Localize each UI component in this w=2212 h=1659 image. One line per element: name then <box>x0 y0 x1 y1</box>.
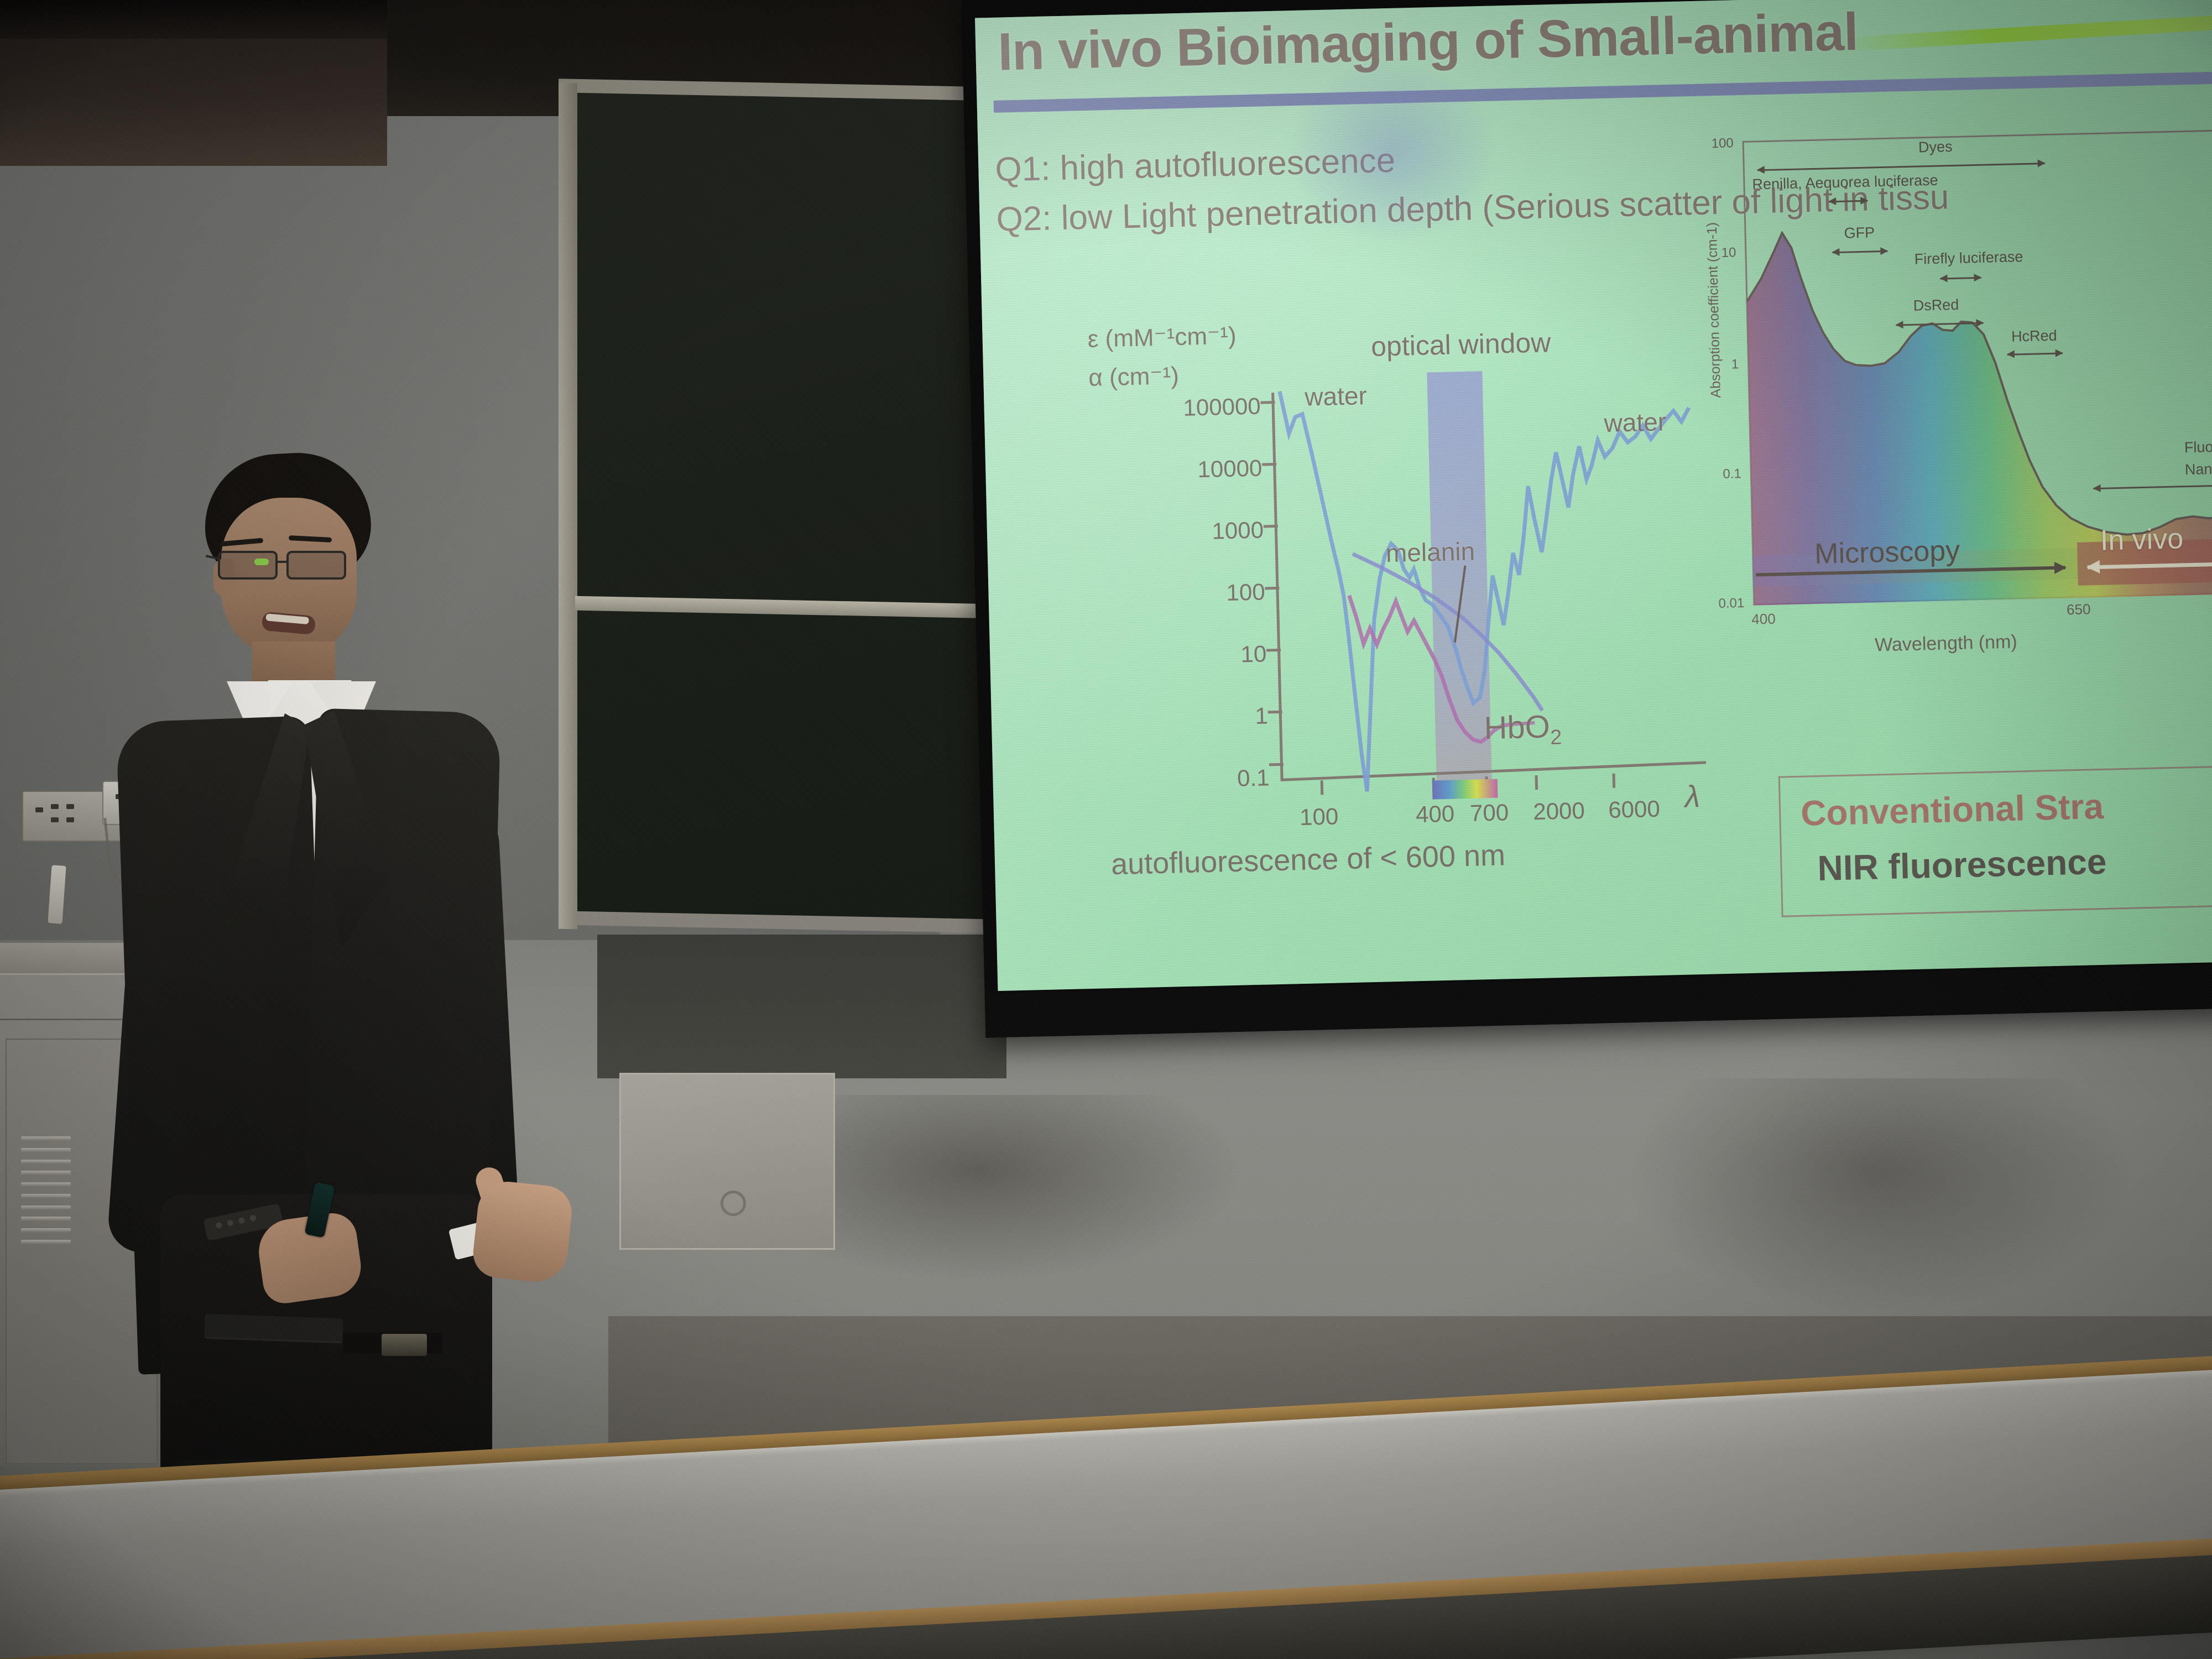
outlet-slot <box>51 817 59 822</box>
label-in-vivo: In vivo <box>2100 522 2184 557</box>
xtick-label: 400 <box>1751 611 1776 628</box>
label-water-left: water <box>1305 380 1368 412</box>
projected-slide: In vivo Bioimaging of Small-animal Q1: h… <box>975 0 2212 991</box>
glasses-lens-right <box>286 551 346 580</box>
chart-right-area <box>1680 107 2212 679</box>
outlet-slot <box>66 817 74 822</box>
belt-buckle <box>382 1334 427 1356</box>
callout-line-2: NIR fluorescence <box>1817 841 2107 889</box>
outlet-slot <box>35 807 43 812</box>
slide-bullet-q1: Q1: high autofluorescence <box>995 141 1396 190</box>
wall-stain <box>802 1095 1244 1283</box>
xtick-label: 2000 <box>1533 797 1585 825</box>
label-optical-window: optical window <box>1371 326 1551 363</box>
glasses-bridge <box>278 561 289 563</box>
outlet-slot <box>66 804 74 809</box>
glasses-icon <box>215 549 363 583</box>
cabinet-vent <box>21 1136 71 1244</box>
xtick-label: 6000 <box>1608 796 1661 823</box>
glasses-lens-left <box>218 551 278 580</box>
xtick-label: 650 <box>2067 601 2091 618</box>
xtick-label: 400 <box>1416 801 1455 828</box>
annotation-label-gfp: GFP <box>1844 224 1875 242</box>
projection-screen: In vivo Bioimaging of Small-animal Q1: h… <box>961 0 2212 1038</box>
conventional-strategy-callout: Conventional Stra NIR fluorescence <box>1778 765 2212 917</box>
chart-tissue-absorption: ε (mM⁻¹cm⁻¹) α (cm⁻¹) 100000 10000 1000 … <box>1087 311 1721 933</box>
chart-right-xlabel: Wavelength (nm) <box>1875 631 2017 656</box>
annotation-label-nanoparticles: Nanoparticles <box>2185 459 2212 478</box>
wall-stain-right <box>1631 1078 2129 1311</box>
label-hbo2: HbO2 <box>1484 708 1562 752</box>
presenter-hand-right <box>471 1179 574 1285</box>
annotation-label-dsred: DsRed <box>1913 296 1959 315</box>
callout-line-1: Conventional Stra <box>1800 786 2104 834</box>
label-melanin: melanin <box>1385 536 1475 568</box>
annotation-label-firefly: Firefly luciferase <box>1914 248 2023 268</box>
xtick-label: 700 <box>1470 799 1509 827</box>
xtick-label: 100 <box>1300 803 1339 831</box>
jacket-pocket-flap <box>204 1314 343 1342</box>
presenter-teeth <box>265 613 309 624</box>
outlet-slot <box>51 804 59 809</box>
annotation-label-dyes: Dyes <box>1918 138 1953 156</box>
visible-spectrum-strip <box>1432 779 1498 800</box>
annotation-label-fluorescent: Fluorescent <box>2184 437 2212 456</box>
annotation-label-hcred: HcRed <box>2011 327 2057 346</box>
label-microscopy: Microscopy <box>1814 534 1960 571</box>
presenter <box>144 431 763 1482</box>
lecture-photo-scene: In vivo Bioimaging of Small-animal Q1: h… <box>0 0 2212 1659</box>
glasses-reflection <box>254 559 269 565</box>
xaxis-lambda-symbol: λ <box>1684 778 1700 815</box>
label-water-right: water <box>1604 406 1667 438</box>
chart-absorption-coefficient: Absorption coefficient (cm-1) 100 10 1 0… <box>1680 107 2212 679</box>
